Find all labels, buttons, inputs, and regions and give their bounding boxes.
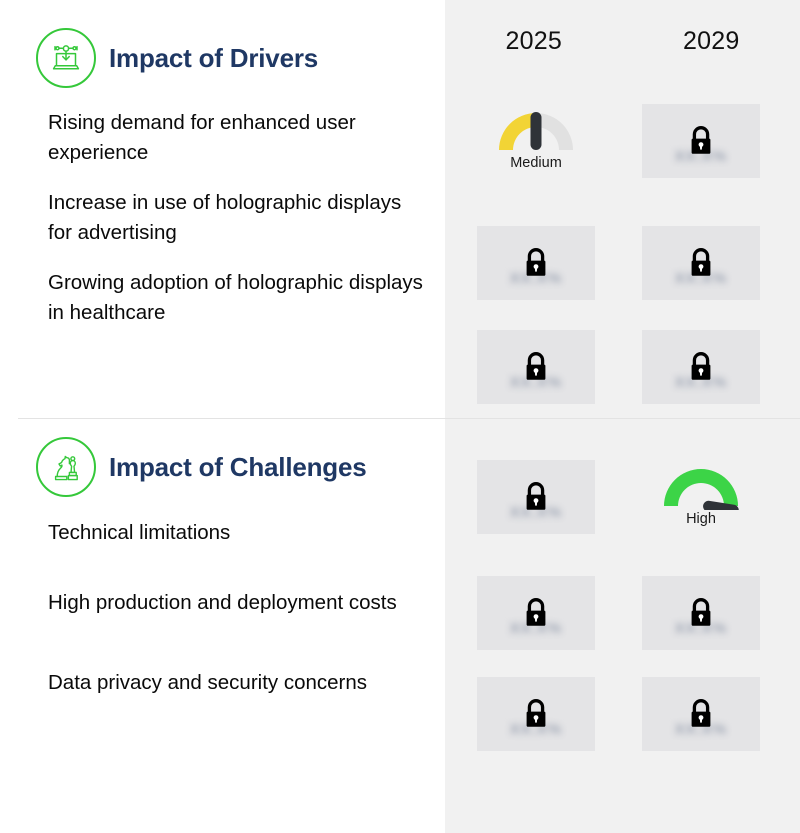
- driver-row-label-3: Growing adoption of holographic displays…: [48, 268, 430, 328]
- challenge-row-label-1: Technical limitations: [48, 518, 430, 548]
- lock-icon: [686, 596, 716, 630]
- gauge-label-high: High: [686, 511, 716, 527]
- section-divider: [18, 418, 800, 419]
- challenge-row-label-2: High production and deployment costs: [48, 588, 430, 618]
- lock-icon: [686, 697, 716, 731]
- laptop-gear-download-icon: [36, 28, 96, 88]
- lock-icon: [521, 596, 551, 630]
- locked-cell[interactable]: XX.X%: [477, 576, 595, 650]
- lock-icon: [686, 246, 716, 280]
- lock-icon: [521, 697, 551, 731]
- chess-pieces-icon: [36, 437, 96, 497]
- cell-challenges-r3-2025[interactable]: XX.X%: [477, 677, 595, 751]
- gauge-arc-high: [660, 464, 742, 510]
- cell-drivers-r2-2025[interactable]: XX.X%: [477, 226, 595, 300]
- locked-cell[interactable]: XX.X%: [477, 330, 595, 404]
- cell-drivers-r2-2029[interactable]: XX.X%: [642, 226, 760, 300]
- gauge-high: High: [642, 460, 760, 534]
- gauge-medium: Medium: [477, 104, 595, 178]
- cell-challenges-r2-2025[interactable]: XX.X%: [477, 576, 595, 650]
- lock-icon: [521, 350, 551, 384]
- gauge-label-medium: Medium: [510, 155, 562, 171]
- cell-challenges-r1-2025[interactable]: XX.X%: [477, 460, 595, 534]
- locked-cell[interactable]: XX.X%: [477, 677, 595, 751]
- lock-icon: [521, 246, 551, 280]
- driver-row-label-2: Increase in use of holographic displays …: [48, 188, 430, 248]
- impact-matrix-page: 2025 2029 Impact of Drivers: [0, 0, 800, 833]
- cell-challenges-r3-2029[interactable]: XX.X%: [642, 677, 760, 751]
- cell-drivers-r3-2025[interactable]: XX.X%: [477, 330, 595, 404]
- lock-icon: [686, 350, 716, 384]
- driver-row-label-1: Rising demand for enhanced user experien…: [48, 108, 430, 168]
- cell-drivers-r1-2029[interactable]: XX.X%: [642, 104, 760, 178]
- locked-cell[interactable]: XX.X%: [642, 330, 760, 404]
- locked-cell[interactable]: XX.X%: [642, 576, 760, 650]
- locked-cell[interactable]: XX.X%: [642, 677, 760, 751]
- cell-challenges-r1-2029[interactable]: High: [642, 460, 760, 534]
- locked-cell[interactable]: XX.X%: [642, 226, 760, 300]
- left-label-column: Impact of Drivers Rising demand for enha…: [0, 0, 445, 833]
- column-header-2025: 2025: [445, 0, 623, 82]
- column-header-row: 2025 2029: [445, 0, 800, 82]
- cell-drivers-r1-2025[interactable]: Medium: [477, 104, 595, 178]
- cell-challenges-r2-2029[interactable]: XX.X%: [642, 576, 760, 650]
- locked-cell[interactable]: XX.X%: [477, 226, 595, 300]
- section-title-challenges: Impact of Challenges: [109, 452, 367, 483]
- lock-icon: [686, 124, 716, 158]
- cell-drivers-r3-2029[interactable]: XX.X%: [642, 330, 760, 404]
- lock-icon: [521, 480, 551, 514]
- challenge-row-label-3: Data privacy and security concerns: [48, 668, 430, 698]
- column-header-2029: 2029: [623, 0, 800, 82]
- section-title-drivers: Impact of Drivers: [109, 43, 318, 74]
- section-header-challenges: Impact of Challenges: [36, 437, 367, 497]
- section-header-drivers: Impact of Drivers: [36, 28, 318, 88]
- gauge-arc-medium: [495, 108, 577, 154]
- locked-cell[interactable]: XX.X%: [477, 460, 595, 534]
- locked-cell[interactable]: XX.X%: [642, 104, 760, 178]
